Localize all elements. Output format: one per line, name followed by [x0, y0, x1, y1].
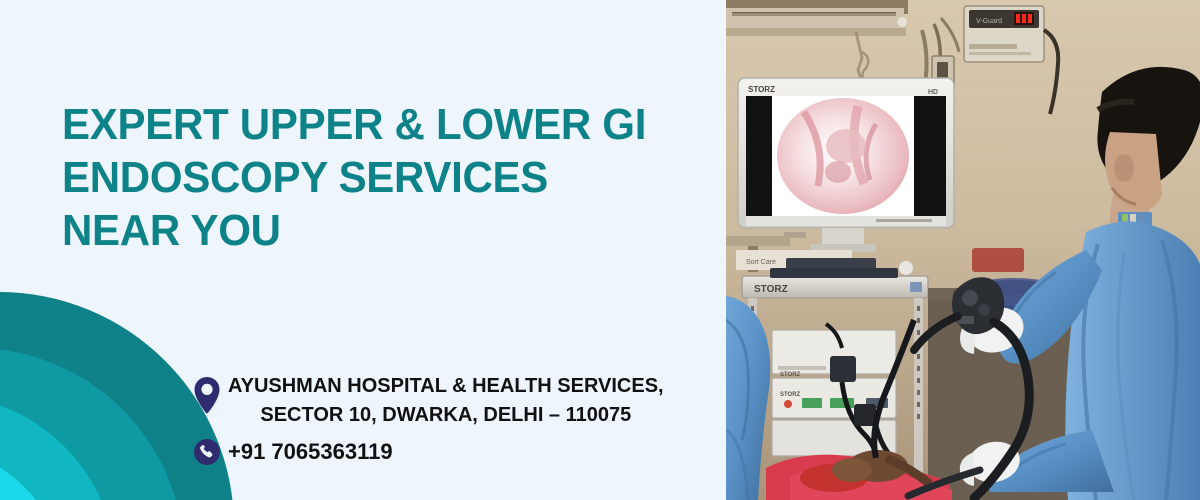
address-text: AYUSHMAN HOSPITAL & HEALTH SERVICES, SEC…: [228, 372, 664, 430]
address-line-2: SECTOR 10, DWARKA, DELHI – 110075: [228, 401, 664, 430]
decorative-arc-third: [0, 395, 116, 500]
headline-line-2: ENDOSCOPY SERVICES: [62, 151, 692, 204]
contact-block: AYUSHMAN HOSPITAL & HEALTH SERVICES, SEC…: [186, 372, 664, 466]
phone-row[interactable]: +91 7065363119: [186, 438, 664, 466]
decorative-arc-second: [0, 348, 184, 500]
svg-text:STORZ: STORZ: [754, 284, 788, 295]
headline-line-3: NEAR YOU: [62, 204, 692, 257]
headline-line-1: EXPERT UPPER & LOWER GI: [62, 98, 692, 151]
svg-text:Sort Care: Sort Care: [746, 259, 776, 266]
svg-text:HD: HD: [928, 89, 938, 96]
address-line-1: AYUSHMAN HOSPITAL & HEALTH SERVICES,: [228, 372, 664, 401]
phone-number[interactable]: +91 7065363119: [228, 438, 393, 466]
svg-text:STORZ: STORZ: [780, 372, 801, 378]
svg-text:STORZ: STORZ: [780, 392, 801, 398]
phone-icon: [186, 438, 228, 466]
svg-text:STORZ: STORZ: [748, 85, 775, 94]
decorative-arc-inner: [0, 443, 70, 500]
headline: EXPERT UPPER & LOWER GI ENDOSCOPY SERVIC…: [62, 98, 722, 257]
endoscopy-procedure-photo: V-Guard STORZ HD: [726, 0, 1200, 500]
promo-banner: EXPERT UPPER & LOWER GI ENDOSCOPY SERVIC…: [0, 0, 1200, 500]
map-pin-icon: [186, 372, 228, 416]
svg-text:V-Guard: V-Guard: [976, 18, 1002, 25]
address-row: AYUSHMAN HOSPITAL & HEALTH SERVICES, SEC…: [186, 372, 664, 430]
left-content-panel: EXPERT UPPER & LOWER GI ENDOSCOPY SERVIC…: [0, 0, 726, 500]
